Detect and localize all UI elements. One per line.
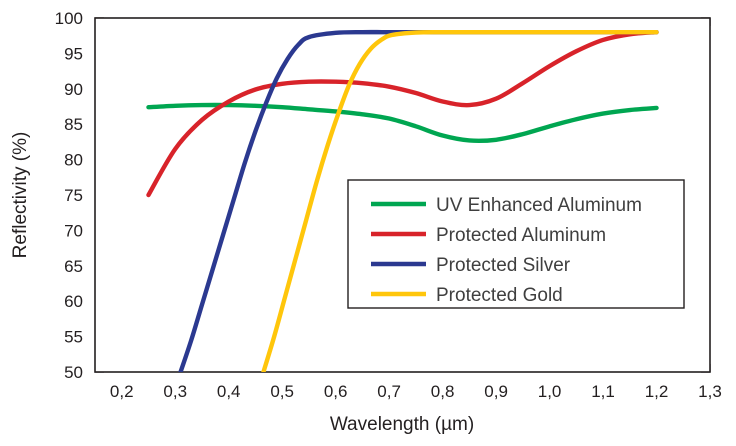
x-tick-label: 1,0 xyxy=(538,382,562,401)
y-axis-title: Reflectivity (%) xyxy=(10,132,31,259)
legend-label-protected-gold: Protected Gold xyxy=(436,285,563,306)
y-tick-label: 60 xyxy=(64,292,83,311)
x-tick-label: 0,3 xyxy=(163,382,187,401)
legend: UV Enhanced AluminumProtected AluminumPr… xyxy=(348,180,684,308)
y-tick-label: 85 xyxy=(64,115,83,134)
x-tick-label: 1,3 xyxy=(698,382,722,401)
x-tick-label: 0,5 xyxy=(270,382,294,401)
x-tick-label: 0,4 xyxy=(217,382,241,401)
x-tick-label: 1,1 xyxy=(591,382,615,401)
y-tick-label: 95 xyxy=(64,44,83,63)
x-tick-label: 0,2 xyxy=(110,382,134,401)
y-tick-label: 90 xyxy=(64,80,83,99)
reflectivity-chart: 0,20,30,40,50,60,70,80,91,01,11,21,3 505… xyxy=(0,0,736,446)
y-tick-label: 50 xyxy=(64,363,83,382)
x-axis-title: Wavelength (µm) xyxy=(330,414,474,435)
x-tick-label: 0,6 xyxy=(324,382,348,401)
x-axis-tick-labels: 0,20,30,40,50,60,70,80,91,01,11,21,3 xyxy=(110,382,722,401)
x-tick-label: 1,2 xyxy=(645,382,669,401)
y-tick-label: 80 xyxy=(64,151,83,170)
y-tick-label: 70 xyxy=(64,221,83,240)
legend-label-uv-enhanced-aluminum: UV Enhanced Aluminum xyxy=(436,195,642,216)
y-tick-label: 100 xyxy=(55,9,83,28)
legend-label-protected-silver: Protected Silver xyxy=(436,255,571,276)
x-tick-label: 0,7 xyxy=(377,382,401,401)
y-tick-label: 55 xyxy=(64,328,83,347)
x-tick-label: 0,9 xyxy=(484,382,508,401)
y-tick-label: 65 xyxy=(64,257,83,276)
legend-label-protected-aluminum: Protected Aluminum xyxy=(436,225,606,246)
y-axis-tick-labels: 50556065707580859095100 xyxy=(55,9,83,382)
chart-canvas: 0,20,30,40,50,60,70,80,91,01,11,21,3 505… xyxy=(0,0,736,446)
x-tick-label: 0,8 xyxy=(431,382,455,401)
y-tick-label: 75 xyxy=(64,186,83,205)
